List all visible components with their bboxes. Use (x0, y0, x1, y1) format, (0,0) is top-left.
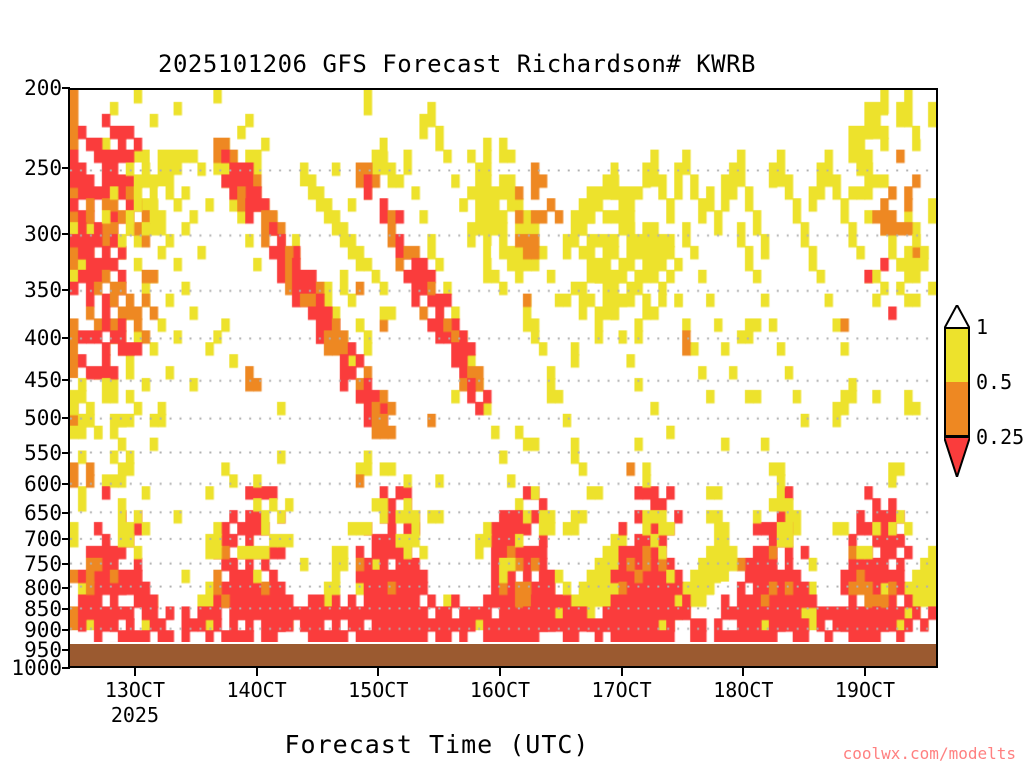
plot-area (68, 88, 938, 668)
colorbar-body (944, 327, 970, 437)
x-tick-mark-14OCT (256, 668, 258, 676)
x-tick-label-13OCT: 13OCT (105, 678, 165, 702)
y-tick-label-700: 700 (24, 529, 62, 550)
x-tick-label-18OCT: 18OCT (713, 678, 773, 702)
y-tick-label-750: 750 (24, 554, 62, 575)
y-tick-mark-600 (62, 483, 70, 485)
x-tick-mark-13OCT (134, 668, 136, 676)
chart-page: 2025101206 GFS Forecast Richardson# KWRB… (0, 0, 1024, 768)
y-tick-mark-350 (62, 289, 70, 291)
y-tick-mark-900 (62, 629, 70, 631)
y-tick-label-800: 800 (24, 578, 62, 599)
x-tick-label-15OCT: 15OCT (348, 678, 408, 702)
x-axis-title-text: Forecast Time (UTC) (285, 730, 590, 759)
colorbar-tick-0.5: 0.5 (976, 370, 1012, 394)
y-tick-mark-850 (62, 608, 70, 610)
y-tick-label-350: 350 (24, 280, 62, 301)
y-tick-label-600: 600 (24, 474, 62, 495)
y-tick-mark-700 (62, 538, 70, 540)
y-tick-mark-450 (62, 379, 70, 381)
x-tick-mark-16OCT (499, 668, 501, 676)
y-tick-label-250: 250 (24, 158, 62, 179)
y-tick-label-300: 300 (24, 224, 62, 245)
y-tick-mark-400 (62, 337, 70, 339)
y-tick-label-1000: 1000 (11, 658, 62, 679)
y-tick-label-550: 550 (24, 443, 62, 464)
colorbar-top-arrow-icon (944, 305, 970, 329)
y-tick-mark-950 (62, 649, 70, 651)
heatmap-canvas (70, 90, 936, 666)
colorbar: 10.50.25 (944, 305, 1024, 480)
y-tick-mark-750 (62, 563, 70, 565)
x-tick-mark-18OCT (742, 668, 744, 676)
chart-title-text: 2025101206 GFS Forecast Richardson# KWRB (158, 50, 756, 78)
x-tick-label-17OCT: 17OCT (592, 678, 652, 702)
terrain-band (70, 644, 936, 666)
y-tick-label-450: 450 (24, 370, 62, 391)
x-tick-label-19OCT: 19OCT (835, 678, 895, 702)
y-tick-label-500: 500 (24, 408, 62, 429)
colorbar-tick-0.25: 0.25 (976, 425, 1024, 449)
colorbar-segment-yellow (946, 329, 968, 382)
y-tick-mark-250 (62, 167, 70, 169)
x-tick-mark-15OCT (377, 668, 379, 676)
x-tick-label-16OCT: 16OCT (470, 678, 530, 702)
watermark: coolwx.com/modelts (843, 744, 1016, 763)
colorbar-bottom-arrow-icon (944, 437, 970, 477)
x-tick-mark-19OCT (864, 668, 866, 676)
colorbar-segment-orange (946, 382, 968, 435)
y-tick-label-400: 400 (24, 328, 62, 349)
y-axis: 2002503003504004505005506006507007508008… (0, 0, 62, 768)
y-tick-mark-500 (62, 417, 70, 419)
x-tick-label-14OCT: 14OCT (226, 678, 286, 702)
x-tick-mark-17OCT (621, 668, 623, 676)
y-tick-mark-550 (62, 452, 70, 454)
y-tick-mark-800 (62, 587, 70, 589)
y-tick-mark-1000 (62, 667, 70, 669)
y-tick-label-200: 200 (24, 78, 62, 99)
y-tick-mark-200 (62, 87, 70, 89)
y-tick-label-650: 650 (24, 503, 62, 524)
page-title: 2025101206 GFS Forecast Richardson# KWRB (0, 50, 1024, 78)
colorbar-tick-1: 1 (976, 315, 988, 339)
y-tick-mark-300 (62, 233, 70, 235)
y-tick-mark-650 (62, 512, 70, 514)
x-axis-year-label: 2025 (111, 703, 159, 727)
